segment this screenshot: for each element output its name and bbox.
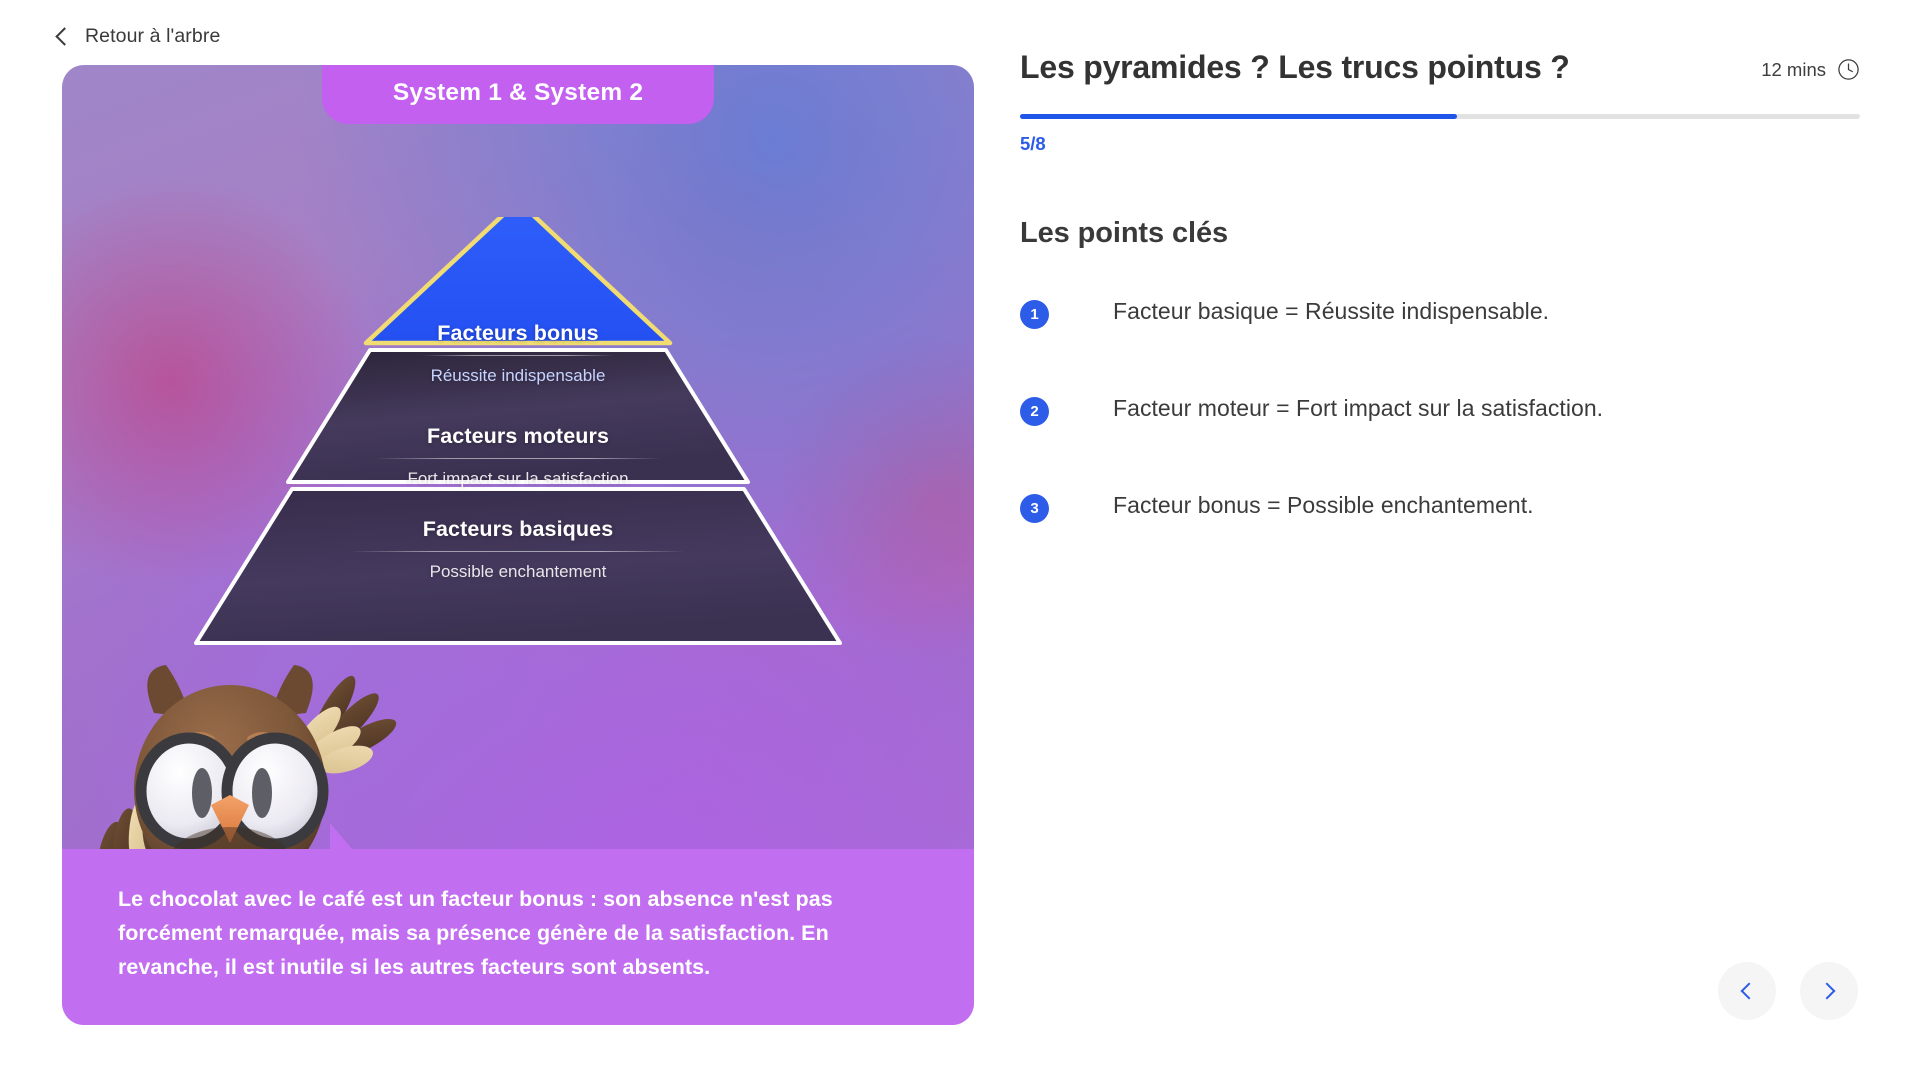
keypoint-number-badge: 2: [1020, 397, 1049, 426]
previous-slide-button[interactable]: [1718, 962, 1776, 1020]
caption-tail: [330, 823, 352, 849]
back-to-tree-label: Retour à l'arbre: [85, 25, 220, 48]
pyramid-tier-basiques: [196, 489, 840, 643]
pyramid-tier-moteurs: [288, 350, 748, 482]
kano-pyramid-diagram: Facteurs bonus Réussite indispensable Fa…: [188, 217, 848, 657]
keypoint-number-badge: 3: [1020, 494, 1049, 523]
keypoints-list: 1 Facteur basique = Réussite indispensab…: [1020, 296, 1860, 523]
progress-counter: 5/8: [1020, 133, 1860, 155]
mascot-caption-bubble: Le chocolat avec le café est un facteur …: [62, 849, 974, 1025]
keypoints-heading: Les points clés: [1020, 217, 1860, 250]
keypoint-text: Facteur basique = Réussite indispensable…: [1113, 296, 1549, 327]
lesson-visual-panel: System 1 & System 2: [62, 65, 974, 1025]
chevron-left-icon: [1741, 983, 1758, 1000]
page-title: Les pyramides ? Les trucs pointus ?: [1020, 48, 1570, 86]
lesson-progress-fill: [1020, 114, 1457, 119]
owl-pupil-left: [192, 768, 212, 818]
chevron-right-icon: [1819, 983, 1836, 1000]
keypoint-text: Facteur bonus = Possible enchantement.: [1113, 490, 1534, 521]
keypoint-text: Facteur moteur = Fort impact sur la sati…: [1113, 393, 1603, 424]
pyramid-tier-bonus: [366, 217, 670, 343]
lesson-header: Les pyramides ? Les trucs pointus ? 12 m…: [1020, 48, 1860, 86]
list-item: 2 Facteur moteur = Fort impact sur la sa…: [1020, 393, 1860, 426]
lesson-progress-bar: [1020, 114, 1860, 119]
keypoint-number-badge: 1: [1020, 300, 1049, 329]
back-to-tree-button[interactable]: Retour à l'arbre: [58, 25, 220, 48]
pyramid-shapes: [188, 217, 848, 657]
clock-icon: [1837, 58, 1860, 81]
chevron-left-icon: [55, 27, 73, 45]
caption-text: Le chocolat avec le café est un facteur …: [118, 883, 916, 985]
next-slide-button[interactable]: [1800, 962, 1858, 1020]
slide-navigation: [1718, 962, 1858, 1020]
lesson-duration: 12 mins: [1761, 48, 1860, 81]
list-item: 3 Facteur bonus = Possible enchantement.: [1020, 490, 1860, 523]
owl-pupil-right: [252, 768, 272, 818]
section-badge: System 1 & System 2: [322, 65, 714, 124]
duration-label: 12 mins: [1761, 59, 1826, 81]
list-item: 1 Facteur basique = Réussite indispensab…: [1020, 296, 1860, 329]
lesson-content-panel: Les pyramides ? Les trucs pointus ? 12 m…: [1020, 48, 1860, 587]
